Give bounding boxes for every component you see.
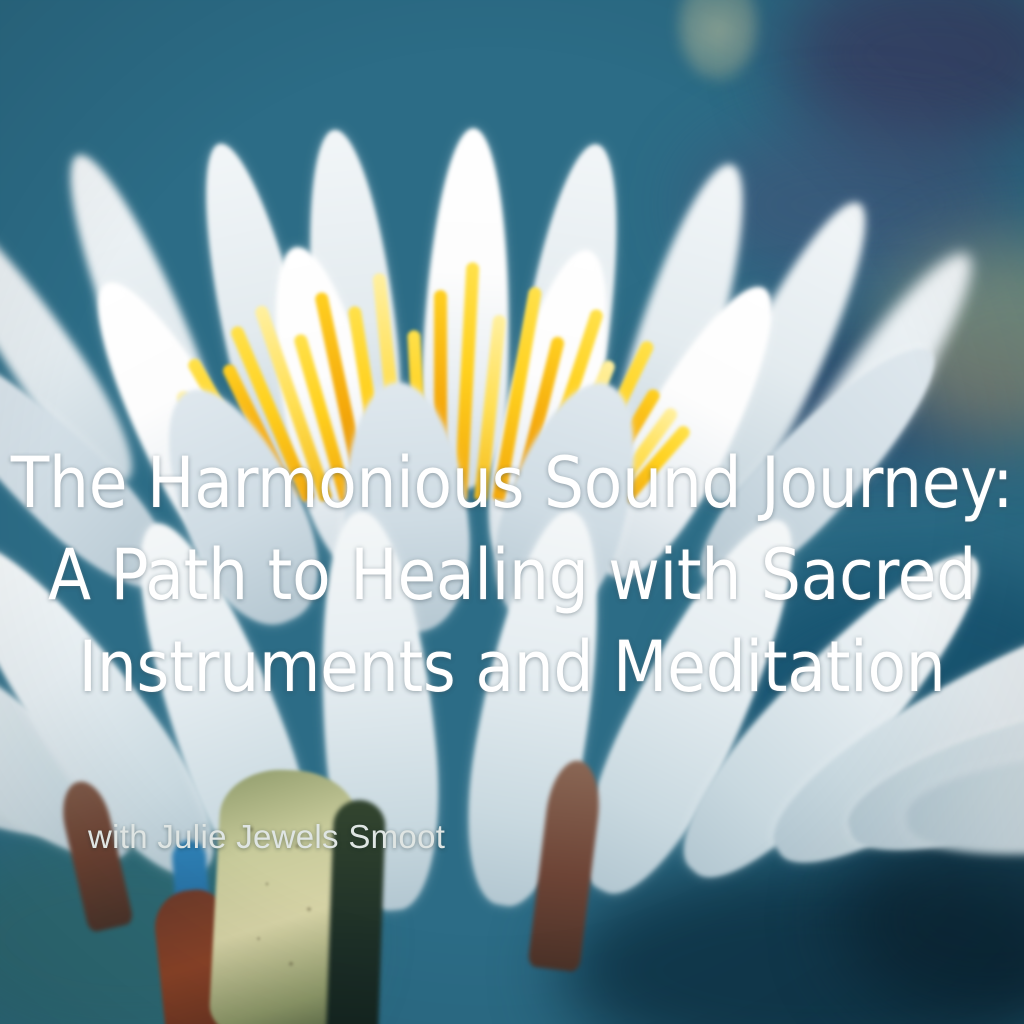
text-overlay: The Harmonious Sound Journey: A Path to …	[0, 0, 1024, 1024]
title-line-1: The Harmonious Sound Journey:	[0, 437, 1024, 529]
promo-poster: The Harmonious Sound Journey: A Path to …	[0, 0, 1024, 1024]
poster-title: The Harmonious Sound Journey: A Path to …	[0, 437, 1024, 713]
title-line-3: Instruments and Meditation	[0, 621, 1024, 713]
title-line-2: A Path to Healing with Sacred	[0, 529, 1024, 621]
presenter-byline: with Julie Jewels Smoot	[88, 818, 445, 856]
